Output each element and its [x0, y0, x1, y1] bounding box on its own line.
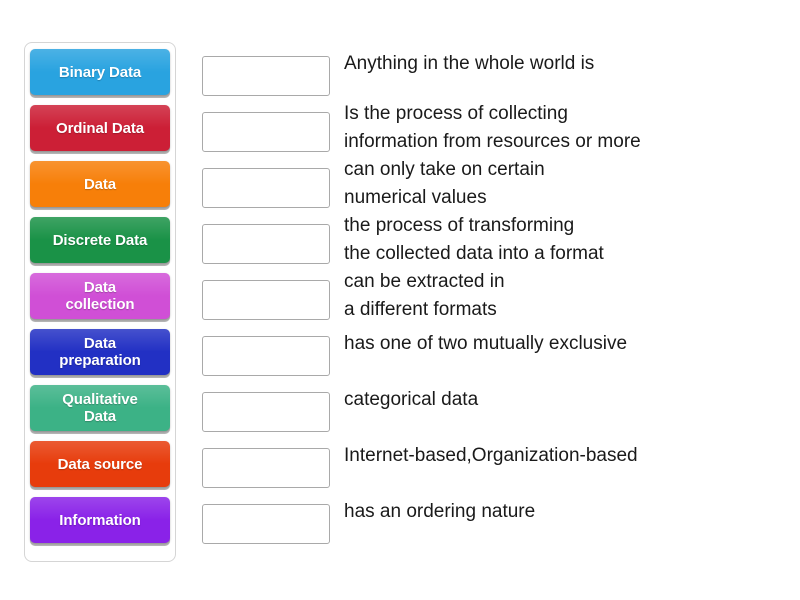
- term-tile[interactable]: Data collection: [30, 273, 170, 319]
- answer-rows: Anything in the whole world isIs the pro…: [202, 42, 782, 546]
- answer-dropzone[interactable]: [202, 112, 330, 152]
- answer-row: Internet-based,Organization-based: [202, 434, 782, 490]
- answer-row: can be extracted in a different formats: [202, 266, 782, 322]
- term-tile-label: Qualitative Data: [59, 391, 141, 425]
- definition-text: Internet-based,Organization-based: [344, 434, 782, 470]
- definition-text: can be extracted in a different formats: [344, 266, 782, 324]
- definition-text: has one of two mutually exclusive: [344, 322, 782, 358]
- term-tile-label: Information: [56, 512, 143, 529]
- draggable-terms-panel: Binary DataOrdinal DataDataDiscrete Data…: [24, 42, 176, 562]
- answer-row: Anything in the whole world is: [202, 42, 782, 98]
- term-tile[interactable]: Information: [30, 497, 170, 543]
- answer-dropzone[interactable]: [202, 168, 330, 208]
- answer-row: categorical data: [202, 378, 782, 434]
- term-tile-label: Binary Data: [56, 64, 144, 81]
- definition-text: categorical data: [344, 378, 782, 414]
- answer-dropzone[interactable]: [202, 504, 330, 544]
- term-tile[interactable]: Discrete Data: [30, 217, 170, 263]
- answer-row: can only take on certain numerical value…: [202, 154, 782, 210]
- term-tile[interactable]: Binary Data: [30, 49, 170, 95]
- answer-dropzone[interactable]: [202, 392, 330, 432]
- answer-dropzone[interactable]: [202, 336, 330, 376]
- definition-text: can only take on certain numerical value…: [344, 154, 782, 212]
- answer-row: has an ordering nature: [202, 490, 782, 546]
- term-tile[interactable]: Data preparation: [30, 329, 170, 375]
- definition-text: Anything in the whole world is: [344, 42, 782, 78]
- answer-dropzone[interactable]: [202, 224, 330, 264]
- term-tile-label: Data collection: [62, 279, 137, 313]
- term-tile[interactable]: Data: [30, 161, 170, 207]
- term-tile[interactable]: Qualitative Data: [30, 385, 170, 431]
- term-tile-label: Data: [81, 176, 119, 193]
- term-tile[interactable]: Data source: [30, 441, 170, 487]
- term-tile-label: Discrete Data: [50, 232, 151, 249]
- answer-dropzone[interactable]: [202, 56, 330, 96]
- definition-text: the process of transforming the collecte…: [344, 210, 782, 268]
- term-tile[interactable]: Ordinal Data: [30, 105, 170, 151]
- term-tile-label: Ordinal Data: [53, 120, 147, 137]
- match-up-activity: Binary DataOrdinal DataDataDiscrete Data…: [0, 0, 800, 600]
- definition-text: Is the process of collecting information…: [344, 98, 782, 156]
- answer-row: has one of two mutually exclusive: [202, 322, 782, 378]
- answer-row: the process of transforming the collecte…: [202, 210, 782, 266]
- answer-dropzone[interactable]: [202, 448, 330, 488]
- term-tile-label: Data preparation: [56, 335, 143, 369]
- term-tile-label: Data source: [55, 456, 146, 473]
- answer-row: Is the process of collecting information…: [202, 98, 782, 154]
- definition-text: has an ordering nature: [344, 490, 782, 526]
- answer-dropzone[interactable]: [202, 280, 330, 320]
